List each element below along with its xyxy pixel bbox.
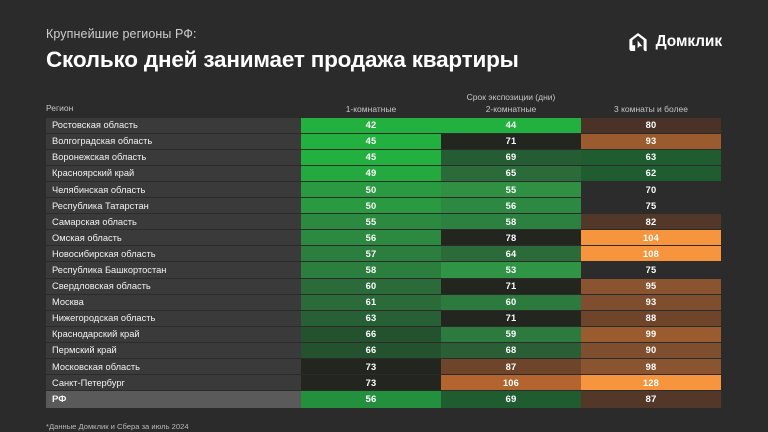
table-row: Самарская область555882 xyxy=(46,214,722,230)
cell-3room: 98 xyxy=(581,359,721,374)
cell-2room: 44 xyxy=(441,118,581,133)
cell-3room: 82 xyxy=(581,214,721,229)
cell-1room: 50 xyxy=(301,182,441,197)
region-label: Пермский край xyxy=(46,343,301,358)
cell-1room: 66 xyxy=(301,327,441,342)
kicker-text: Крупнейшие регионы РФ: xyxy=(46,27,519,43)
table-row: Волгоградская область457193 xyxy=(46,134,722,150)
column-header-1room: 1-комнатные xyxy=(301,104,441,114)
table-row: Красноярский край496562 xyxy=(46,166,722,182)
cell-2room: 53 xyxy=(441,262,581,277)
region-label: Самарская область xyxy=(46,214,301,229)
cell-2room: 87 xyxy=(441,359,581,374)
cell-1room: 56 xyxy=(301,230,441,245)
cell-3room: 75 xyxy=(581,262,721,277)
footnote: *Данные Домклик и Сбера за июль 2024 xyxy=(46,422,722,431)
house-cursor-icon xyxy=(627,31,649,53)
logo-text: Домклик xyxy=(656,33,722,51)
cell-3room: 99 xyxy=(581,327,721,342)
cell-3room: 87 xyxy=(581,391,721,408)
cell-1room: 60 xyxy=(301,279,441,294)
region-label: Республика Татарстан xyxy=(46,198,301,213)
cell-2room: 69 xyxy=(441,391,581,408)
column-header-3room: 3 комнаты и более xyxy=(581,104,721,114)
column-headers: Регион Срок экспозиции (дни) 1-комнатные… xyxy=(46,92,722,118)
cell-3room: 75 xyxy=(581,198,721,213)
infographic-poster: Крупнейшие регионы РФ: Сколько дней зани… xyxy=(0,0,768,432)
region-label: РФ xyxy=(46,391,301,408)
cell-1room: 45 xyxy=(301,134,441,149)
domklik-logo: Домклик xyxy=(627,27,722,53)
cell-2room: 106 xyxy=(441,375,581,390)
cell-1room: 42 xyxy=(301,118,441,133)
region-label: Московская область xyxy=(46,359,301,374)
page-title: Сколько дней занимает продажа квартиры xyxy=(46,46,519,73)
region-label: Москва xyxy=(46,295,301,310)
cell-1room: 45 xyxy=(301,150,441,165)
cell-2room: 65 xyxy=(441,166,581,181)
region-label: Краснодарский край xyxy=(46,327,301,342)
cell-3room: 62 xyxy=(581,166,721,181)
cell-3room: 108 xyxy=(581,246,721,261)
region-label: Воронежская область xyxy=(46,150,301,165)
cell-2room: 68 xyxy=(441,343,581,358)
cell-3room: 90 xyxy=(581,343,721,358)
table-row: Москва616093 xyxy=(46,295,722,311)
header: Крупнейшие регионы РФ: Сколько дней зани… xyxy=(46,0,722,73)
region-label: Красноярский край xyxy=(46,166,301,181)
cell-1room: 73 xyxy=(301,359,441,374)
cell-2room: 56 xyxy=(441,198,581,213)
column-header-region: Регион xyxy=(46,103,73,113)
table-row-total: РФ566987 xyxy=(46,391,722,408)
cell-2room: 64 xyxy=(441,246,581,261)
cell-1room: 56 xyxy=(301,391,441,408)
cell-2room: 60 xyxy=(441,295,581,310)
cell-3room: 93 xyxy=(581,295,721,310)
cell-2room: 55 xyxy=(441,182,581,197)
cell-1room: 49 xyxy=(301,166,441,181)
cell-2room: 71 xyxy=(441,311,581,326)
table-row: Новосибирская область5764108 xyxy=(46,246,722,262)
cell-2room: 59 xyxy=(441,327,581,342)
region-label: Санкт-Петербург xyxy=(46,375,301,390)
cell-1room: 66 xyxy=(301,343,441,358)
cell-3room: 128 xyxy=(581,375,721,390)
table-row: Санкт-Петербург73106128 xyxy=(46,375,722,391)
region-label: Свердловская область xyxy=(46,279,301,294)
cell-3room: 63 xyxy=(581,150,721,165)
cell-3room: 88 xyxy=(581,311,721,326)
table-row: Ростовская область424480 xyxy=(46,118,722,134)
table-row: Челябинская область505570 xyxy=(46,182,722,198)
cell-3room: 104 xyxy=(581,230,721,245)
cell-1room: 58 xyxy=(301,262,441,277)
region-label: Челябинская область xyxy=(46,182,301,197)
column-header-2room: 2-комнатные xyxy=(441,104,581,114)
cell-2room: 71 xyxy=(441,279,581,294)
region-label: Нижегородская область xyxy=(46,311,301,326)
region-label: Республика Башкортостан xyxy=(46,262,301,277)
region-label: Волгоградская область xyxy=(46,134,301,149)
table-row: Нижегородская область637188 xyxy=(46,311,722,327)
cell-1room: 63 xyxy=(301,311,441,326)
table-row: Республика Татарстан505675 xyxy=(46,198,722,214)
table-row: Московская область738798 xyxy=(46,359,722,375)
table-row: Краснодарский край665999 xyxy=(46,327,722,343)
cell-1room: 61 xyxy=(301,295,441,310)
table-row: Омская область5678104 xyxy=(46,230,722,246)
region-label: Новосибирская область xyxy=(46,246,301,261)
title-block: Крупнейшие регионы РФ: Сколько дней зани… xyxy=(46,27,519,73)
heatmap-table: Ростовская область424480Волгоградская об… xyxy=(46,118,722,409)
cell-2room: 78 xyxy=(441,230,581,245)
cell-2room: 71 xyxy=(441,134,581,149)
cell-3room: 70 xyxy=(581,182,721,197)
cell-3room: 80 xyxy=(581,118,721,133)
cell-3room: 93 xyxy=(581,134,721,149)
region-label: Ростовская область xyxy=(46,118,301,133)
table-row: Свердловская область607195 xyxy=(46,279,722,295)
cell-2room: 58 xyxy=(441,214,581,229)
region-label: Омская область xyxy=(46,230,301,245)
table-row: Пермский край666890 xyxy=(46,343,722,359)
cell-1room: 73 xyxy=(301,375,441,390)
cell-1room: 55 xyxy=(301,214,441,229)
cell-1room: 57 xyxy=(301,246,441,261)
cell-1room: 50 xyxy=(301,198,441,213)
cell-2room: 69 xyxy=(441,150,581,165)
table-row: Республика Башкортостан585375 xyxy=(46,262,722,278)
cell-3room: 95 xyxy=(581,279,721,294)
column-group-header: Срок экспозиции (дни) xyxy=(441,92,581,102)
table-row: Воронежская область456963 xyxy=(46,150,722,166)
